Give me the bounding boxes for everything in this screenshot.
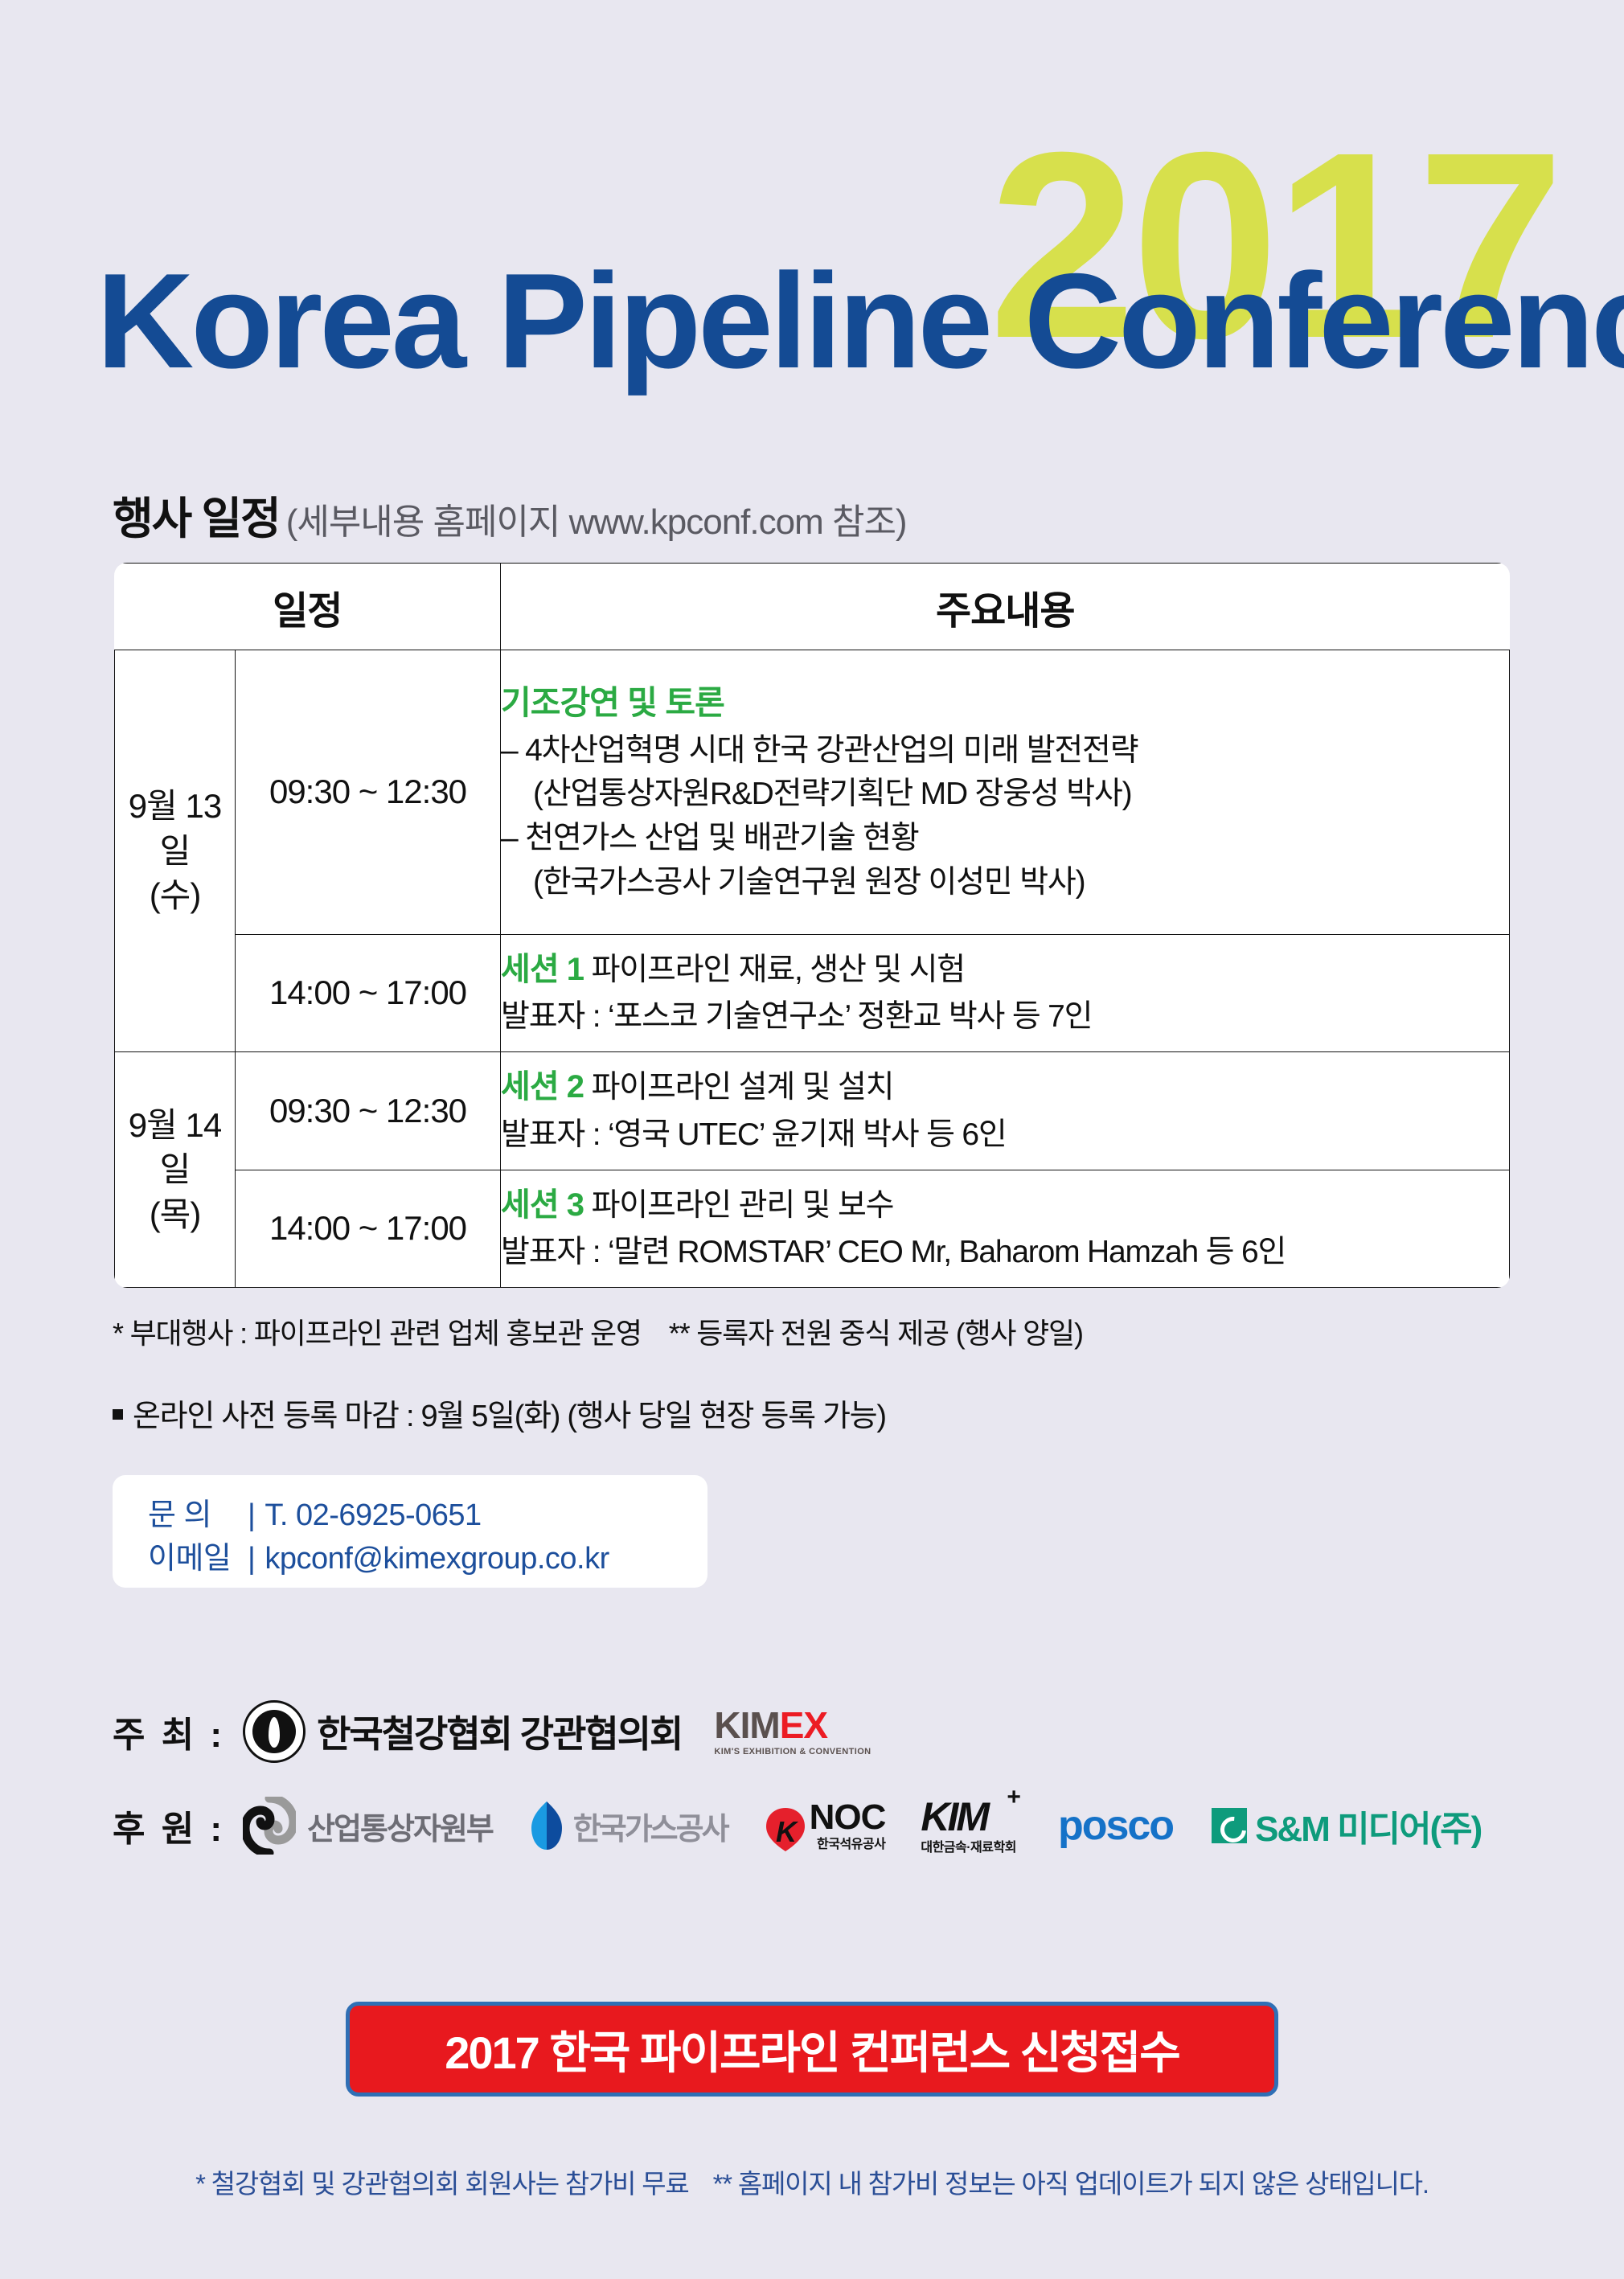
table-header-row: 일정 주요내용 [115, 564, 1510, 650]
keynote-line-3: – 천연가스 산업 및 배관기술 현황 [501, 817, 1509, 861]
poster-title: Korea Pipeline Conference [96, 253, 1624, 388]
contact-email-line: 이메일|kpconf@kimexgroup.co.kr [148, 1538, 707, 1581]
schedule-heading-main: 행사 일정 [113, 494, 280, 543]
posco-wordmark-icon: posco [1058, 1801, 1173, 1850]
contact-separator: | [248, 1538, 255, 1581]
schedule-table-wrapper: 일정 주요내용 9월 13일 (수) 09:30 ~ 12:30 기조강연 및 … [114, 563, 1510, 1288]
schedule-heading: 행사 일정(세부내용 홈페이지 www.kpconf.com 참조) [113, 482, 907, 547]
bottom-notice: * 철강협회 및 강관협의회 회원사는 참가비 무료** 홈페이지 내 참가비 … [0, 2162, 1624, 2201]
date-line-2: (수) [115, 873, 235, 917]
svg-text:K: K [776, 1815, 799, 1848]
date-cell-day2: 9월 14일 (목) [115, 1052, 236, 1288]
content-cell-session-1: 세션 1 파이프라인 재료, 생산 및 시험 발표자 : ‘포스코 기술연구소’… [501, 934, 1510, 1051]
session-label: 세션 1 [501, 952, 584, 987]
contact-box: 문 의|T. 02-6925-0651 이메일|kpconf@kimexgrou… [113, 1475, 707, 1588]
session-topic: 파이프라인 재료, 생산 및 시험 [592, 953, 965, 987]
keynote-line-1: – 4차산업혁명 시대 한국 강관산업의 미래 발전전략 [501, 729, 1509, 773]
contact-phone-line: 문 의|T. 02-6925-0651 [148, 1494, 707, 1538]
sponsor-label: 후 원 : [113, 1800, 225, 1851]
session-presenter: 발표자 : ‘영국 UTEC’ 윤기재 박사 등 6인 [501, 1113, 1509, 1158]
sm-media-icon [1212, 1808, 1247, 1843]
schedule-footnotes: * 부대행사 : 파이프라인 관련 업체 홍보관 운영** 등록자 전원 중식 … [113, 1310, 1083, 1352]
keynote-heading: 기조강연 및 토론 [501, 680, 1509, 726]
session-label: 세션 2 [501, 1069, 584, 1105]
session-presenter: 발표자 : ‘포스코 기술연구소’ 정환교 박사 등 7인 [501, 995, 1509, 1039]
bottom-notice-part-1: * 철강협회 및 강관협의회 회원사는 참가비 무료 [195, 2169, 689, 2199]
content-cell-keynote: 기조강연 및 토론 – 4차산업혁명 시대 한국 강관산업의 미래 발전전략 (… [501, 650, 1510, 935]
registration-deadline-text: 온라인 사전 등록 마감 : 9월 5일(화) (행사 당일 현장 등록 가능) [133, 1400, 886, 1433]
kim-logo: KIM+ 대한금속·재료학회 [921, 1797, 1016, 1855]
kimex-logo-part-a: KIM [714, 1704, 779, 1746]
kimex-logo: KIMEX KIM'S EXHIBITION & CONVENTION [714, 1707, 871, 1756]
kosa-seal-icon [243, 1700, 306, 1763]
kimex-logo-part-b: EX [780, 1704, 827, 1746]
contact-email-value[interactable]: kpconf@kimexgroup.co.kr [265, 1542, 609, 1576]
session-presenter: 발표자 : ‘말련 ROMSTAR’ CEO Mr, Baharom Hamza… [501, 1231, 1509, 1275]
host-label: 주 최 : [113, 1706, 225, 1757]
poster-title-block: 2017 Korea Pipeline Conference [0, 96, 1624, 418]
sponsor-name-knoc: NOC [810, 1797, 886, 1837]
footnote-lunch: ** 등록자 전원 중식 제공 (행사 양일) [669, 1317, 1083, 1350]
keynote-line-4: (한국가스공사 기술연구원 원장 이성민 박사) [501, 861, 1509, 905]
session-topic: 파이프라인 관리 및 보수 [592, 1188, 894, 1223]
table-row: 14:00 ~ 17:00 세션 3 파이프라인 관리 및 보수 발표자 : ‘… [115, 1170, 1510, 1287]
sponsor-name-motie: 산업통상자원부 [307, 1804, 493, 1848]
plus-icon: + [1007, 1785, 1021, 1810]
date-line-1: 9월 13일 [115, 784, 235, 873]
time-cell: 14:00 ~ 17:00 [236, 1170, 501, 1287]
date-line-2: (목) [115, 1192, 235, 1236]
sponsor-name-kogas: 한국가스공사 [573, 1804, 728, 1848]
sponsor-subname-knoc: 한국석유공사 [810, 1838, 886, 1851]
registration-cta-button[interactable]: 2017 한국 파이프라인 컨퍼런스 신청접수 [346, 2002, 1278, 2097]
schedule-heading-sub: (세부내용 홈페이지 www.kpconf.com 참조) [286, 502, 907, 542]
sponsor-row: 후 원 : 산업통상자원부 한국가스공사 K [113, 1797, 1481, 1855]
schedule-table: 일정 주요내용 9월 13일 (수) 09:30 ~ 12:30 기조강연 및 … [114, 563, 1510, 1288]
square-bullet-icon [113, 1409, 123, 1420]
column-header-content: 주요내용 [501, 564, 1510, 650]
knoc-logo: K NOC 한국석유공사 [765, 1800, 886, 1851]
table-row: 9월 13일 (수) 09:30 ~ 12:30 기조강연 및 토론 – 4차산… [115, 650, 1510, 935]
time-cell: 09:30 ~ 12:30 [236, 1052, 501, 1170]
sponsor-name-sm-media: S&M 미디어(주) [1255, 1800, 1481, 1851]
sponsor-name-kim: KIM [921, 1794, 987, 1839]
host-name: 한국철강협회 강관협의회 [317, 1705, 682, 1758]
kimex-tagline: KIM'S EXHIBITION & CONVENTION [714, 1748, 871, 1756]
table-row: 14:00 ~ 17:00 세션 1 파이프라인 재료, 생산 및 시험 발표자… [115, 934, 1510, 1051]
host-row: 주 최 : 한국철강협회 강관협의회 KIMEX KIM'S EXHIBITIO… [113, 1700, 871, 1763]
date-cell-day1: 9월 13일 (수) [115, 650, 236, 1052]
bottom-notice-part-2: ** 홈페이지 내 참가비 정보는 아직 업데이트가 되지 않은 상태입니다. [713, 2169, 1429, 2199]
session-label: 세션 3 [501, 1187, 584, 1223]
time-cell: 09:30 ~ 12:30 [236, 650, 501, 935]
sponsor-subname-kim: 대한금속·재료학회 [921, 1842, 1016, 1855]
keynote-line-2: (산업통상자원R&D전략기획단 MD 장웅성 박사) [501, 773, 1509, 817]
column-header-schedule: 일정 [115, 564, 501, 650]
contact-email-label: 이메일 [148, 1538, 244, 1581]
kogas-logo: 한국가스공사 [530, 1801, 728, 1851]
contact-phone-label: 문 의 [148, 1494, 244, 1538]
conference-poster: 2017 Korea Pipeline Conference 행사 일정(세부내… [0, 0, 1624, 2279]
contact-phone-value: T. 02-6925-0651 [265, 1498, 481, 1532]
contact-separator: | [248, 1494, 255, 1538]
content-cell-session-2: 세션 2 파이프라인 설계 및 설치 발표자 : ‘영국 UTEC’ 윤기재 박… [501, 1052, 1510, 1170]
table-row: 9월 14일 (목) 09:30 ~ 12:30 세션 2 파이프라인 설계 및… [115, 1052, 1510, 1170]
content-cell-session-3: 세션 3 파이프라인 관리 및 보수 발표자 : ‘말련 ROMSTAR’ CE… [501, 1170, 1510, 1287]
knoc-k-icon: K [765, 1808, 806, 1851]
kogas-flame-icon [530, 1801, 564, 1851]
registration-deadline-note: 온라인 사전 등록 마감 : 9월 5일(화) (행사 당일 현장 등록 가능) [113, 1391, 886, 1435]
footnote-side-event: * 부대행사 : 파이프라인 관련 업체 홍보관 운영 [113, 1317, 642, 1350]
registration-cta-label: 2017 한국 파이프라인 컨퍼런스 신청접수 [445, 2017, 1179, 2082]
date-line-1: 9월 14일 [115, 1103, 235, 1192]
time-cell: 14:00 ~ 17:00 [236, 934, 501, 1051]
session-topic: 파이프라인 설계 및 설치 [592, 1070, 894, 1105]
taegeuk-icon [243, 1797, 296, 1855]
sm-media-logo: S&M 미디어(주) [1212, 1800, 1481, 1851]
